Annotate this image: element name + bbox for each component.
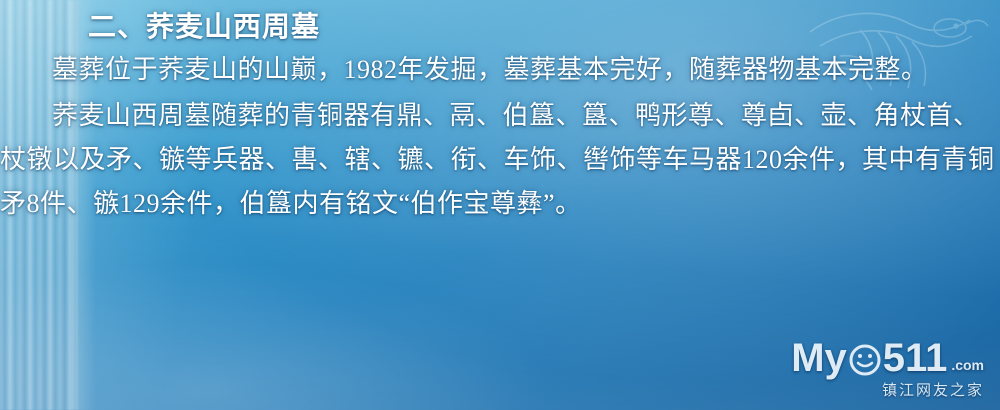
slide-content: 二、荞麦山西周墓 墓葬位于荞麦山的山巅，1982年发掘，墓葬基本完好，随葬器物基… <box>0 0 1000 410</box>
paragraph-2: 荞麦山西周墓随葬的青铜器有鼎、鬲、伯簋、簋、鸭形尊、尊卣、壶、角杖首、杖镦以及矛… <box>0 94 1000 226</box>
slide-title: 二、荞麦山西周墓 <box>88 5 320 45</box>
slide-body: 墓葬位于荞麦山的山巅，1982年发掘，墓葬基本完好，随葬器物基本完整。 荞麦山西… <box>0 48 1000 228</box>
paragraph-1: 墓葬位于荞麦山的山巅，1982年发掘，墓葬基本完好，随葬器物基本完整。 <box>0 48 1000 92</box>
projected-slide: 二、荞麦山西周墓 墓葬位于荞麦山的山巅，1982年发掘，墓葬基本完好，随葬器物基… <box>0 0 1000 410</box>
